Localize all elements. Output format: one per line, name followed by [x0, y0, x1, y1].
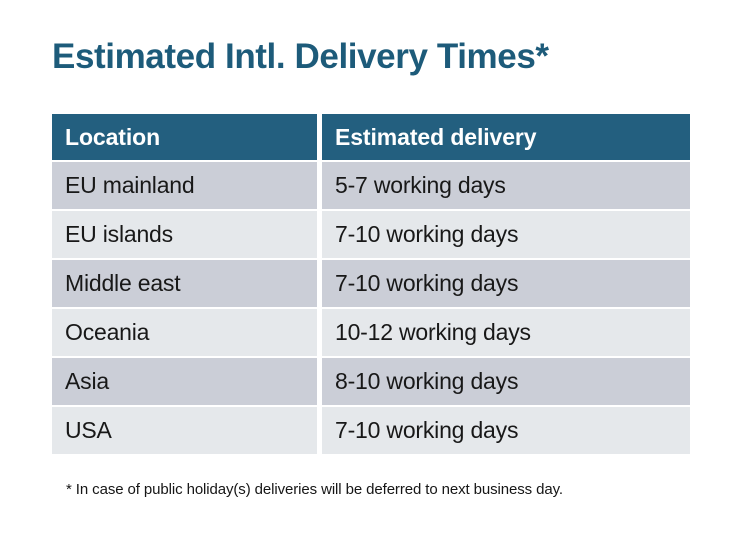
cell-delivery: 10-12 working days [322, 309, 690, 356]
column-header-estimated-delivery: Estimated delivery [322, 114, 690, 160]
table-row: EU mainland 5-7 working days [52, 162, 690, 209]
column-header-location: Location [52, 114, 317, 160]
page-title: Estimated Intl. Delivery Times* [52, 36, 549, 78]
table-row: EU islands 7-10 working days [52, 211, 690, 258]
cell-delivery: 5-7 working days [322, 162, 690, 209]
table-row: USA 7-10 working days [52, 407, 690, 454]
footnote-text: * In case of public holiday(s) deliverie… [66, 481, 563, 498]
cell-delivery: 7-10 working days [322, 260, 690, 307]
cell-delivery: 7-10 working days [322, 211, 690, 258]
cell-location: EU mainland [52, 162, 317, 209]
cell-location: EU islands [52, 211, 317, 258]
table-row: Oceania 10-12 working days [52, 309, 690, 356]
cell-delivery: 7-10 working days [322, 407, 690, 454]
table-header-row: Location Estimated delivery [52, 114, 690, 160]
cell-location: Asia [52, 358, 317, 405]
table-row: Middle east 7-10 working days [52, 260, 690, 307]
delivery-times-page: Estimated Intl. Delivery Times* Location… [0, 0, 745, 536]
cell-location: Oceania [52, 309, 317, 356]
cell-location: Middle east [52, 260, 317, 307]
cell-delivery: 8-10 working days [322, 358, 690, 405]
cell-location: USA [52, 407, 317, 454]
table-row: Asia 8-10 working days [52, 358, 690, 405]
delivery-times-table: Location Estimated delivery EU mainland … [52, 114, 690, 454]
